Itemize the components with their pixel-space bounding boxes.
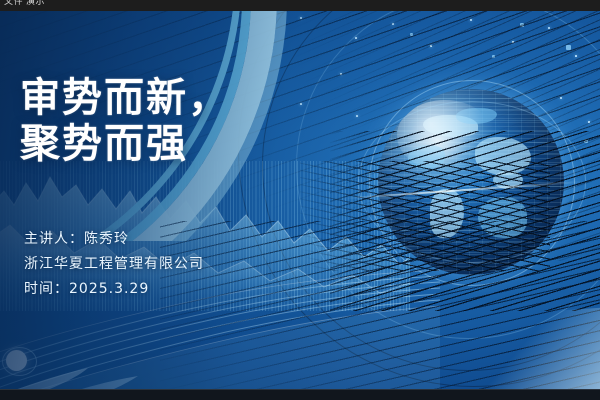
app-toolbar[interactable]: 文件 演示 xyxy=(0,0,600,11)
meta-date: 时间：2025.3.29 xyxy=(24,277,204,302)
slide-meta: 主讲人：陈秀玲 浙江华夏工程管理有限公司 时间：2025.3.29 xyxy=(24,227,204,302)
app-statusbar[interactable] xyxy=(0,389,600,400)
presentation-window: 文件 演示 xyxy=(0,0,600,400)
meta-speaker: 主讲人：陈秀玲 xyxy=(24,227,204,252)
accent-dot xyxy=(6,350,27,371)
toolbar-label: 文件 演示 xyxy=(4,0,45,7)
slide-title: 审势而新， 聚势而强 xyxy=(20,75,230,167)
statusbar-divider xyxy=(0,389,600,390)
digital-globe xyxy=(378,89,564,275)
slide-canvas[interactable]: 审势而新， 聚势而强 主讲人：陈秀玲 浙江华夏工程管理有限公司 时间：2025.… xyxy=(0,11,600,389)
slide-title-line-1: 审势而新， xyxy=(20,75,230,121)
slide-title-line-2: 聚势而强 xyxy=(20,121,230,167)
meta-organization: 浙江华夏工程管理有限公司 xyxy=(24,252,204,277)
